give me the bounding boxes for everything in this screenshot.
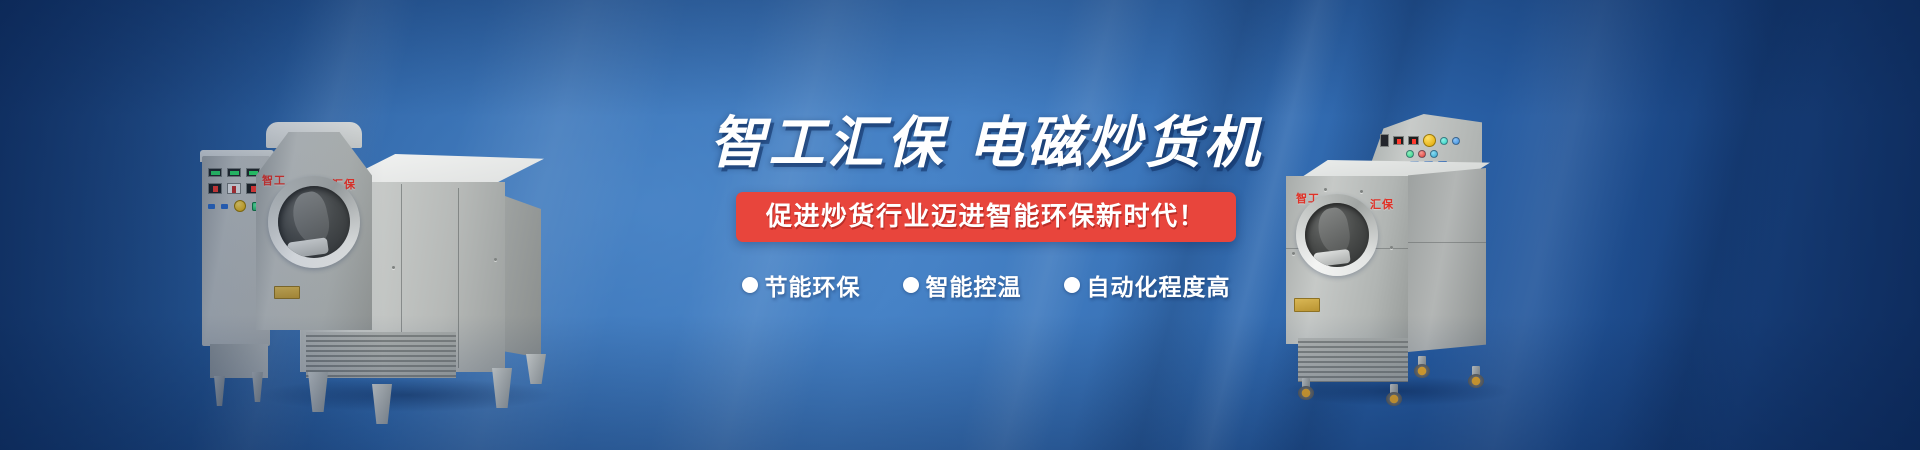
feature-item-automation: 自动化程度高 — [1064, 268, 1231, 302]
cabinet-leg — [214, 376, 225, 406]
drum-interior — [278, 186, 350, 258]
feature-list: 节能环保 智能控温 自动化程度高 — [706, 268, 1266, 302]
panel-bolt — [1324, 188, 1327, 191]
caster-wheel — [1468, 366, 1484, 388]
panel-bolt — [392, 266, 395, 269]
caster-wheel — [1414, 356, 1430, 378]
rating-plate — [274, 286, 300, 299]
caster-wheel — [1298, 378, 1314, 400]
green-display — [227, 168, 241, 177]
bullet-dot-icon — [1064, 277, 1080, 293]
cabinet-leg — [252, 372, 263, 402]
control-row-top — [1380, 134, 1464, 147]
emergency-stop-knob[interactable] — [1423, 134, 1436, 147]
panel-bolt — [1390, 246, 1393, 249]
product-image-left-roaster: 许昌智工 智工 汇保 — [196, 96, 588, 402]
blue-switch[interactable] — [208, 204, 215, 209]
brand-text-right: 汇保 — [1370, 196, 1394, 212]
red-display — [1408, 136, 1419, 145]
headline-product: 电磁炒货机 — [968, 111, 1263, 174]
drum-scoop — [287, 237, 329, 258]
blue-switch[interactable] — [221, 204, 228, 209]
feature-label: 节能环保 — [765, 268, 861, 302]
drum-scoop — [1313, 249, 1350, 267]
panel-bolt — [1360, 190, 1363, 193]
emergency-stop-knob[interactable] — [234, 200, 246, 212]
caster-wheel — [1386, 384, 1402, 406]
banner-headline: 智工汇保电磁炒货机 — [706, 112, 1266, 175]
red-display — [1393, 136, 1404, 145]
brand-text-left: 智工 — [262, 172, 286, 188]
panel-seam — [458, 188, 459, 368]
control-panel — [208, 168, 262, 230]
banner-copy: 智工汇保电磁炒货机 促进炒货行业迈进智能环保新时代！ 节能环保 智能控温 自动化… — [706, 112, 1266, 302]
machine-leg — [492, 368, 512, 408]
headline-brand: 智工汇保 — [710, 111, 946, 174]
feature-item-smart-temperature: 智能控温 — [903, 268, 1022, 302]
body-side-panel — [1408, 168, 1486, 352]
feature-item-energy-saving: 节能环保 — [742, 268, 861, 302]
control-row — [208, 200, 262, 212]
red-button[interactable] — [1418, 150, 1426, 158]
panel-bolt — [494, 258, 497, 261]
red-display — [208, 183, 222, 194]
panel-bolt — [1292, 252, 1295, 255]
panel-seam — [1408, 242, 1486, 243]
control-panel — [1380, 134, 1464, 160]
drum-interior — [1305, 203, 1369, 267]
teal-button[interactable] — [1440, 137, 1448, 145]
feature-label: 自动化程度高 — [1087, 268, 1231, 302]
machine-leg — [372, 384, 392, 424]
machine-leg — [526, 354, 546, 384]
cabinet-side-panel — [505, 196, 541, 358]
machine-leg — [308, 372, 328, 412]
cyan-button[interactable] — [1430, 150, 1438, 158]
product-image-right-roaster: 智工 汇保 — [1282, 90, 1518, 402]
ventilation-louvers — [306, 332, 456, 378]
display-row-green — [208, 168, 262, 177]
bullet-dot-icon — [742, 277, 758, 293]
blue-button[interactable] — [1452, 137, 1460, 145]
meter-display — [1380, 134, 1389, 147]
green-display — [208, 168, 222, 177]
tagline-text: 促进炒货行业迈进智能环保新时代！ — [766, 200, 1206, 233]
green-button[interactable] — [1406, 150, 1414, 158]
white-display — [227, 183, 241, 194]
machine-shadow — [256, 378, 556, 412]
dark-streak — [1560, 0, 1879, 450]
promo-banner: 许昌智工 智工 汇保 智工汇保电磁炒货机 — [0, 0, 1920, 450]
control-row-bottom — [1380, 150, 1464, 158]
bullet-dot-icon — [903, 277, 919, 293]
rating-plate — [1294, 298, 1320, 312]
feature-label: 智能控温 — [926, 268, 1022, 302]
tagline-pill: 促进炒货行业迈进智能环保新时代！ — [736, 192, 1236, 243]
display-row-red — [208, 183, 262, 194]
ventilation-louvers — [1298, 338, 1408, 382]
